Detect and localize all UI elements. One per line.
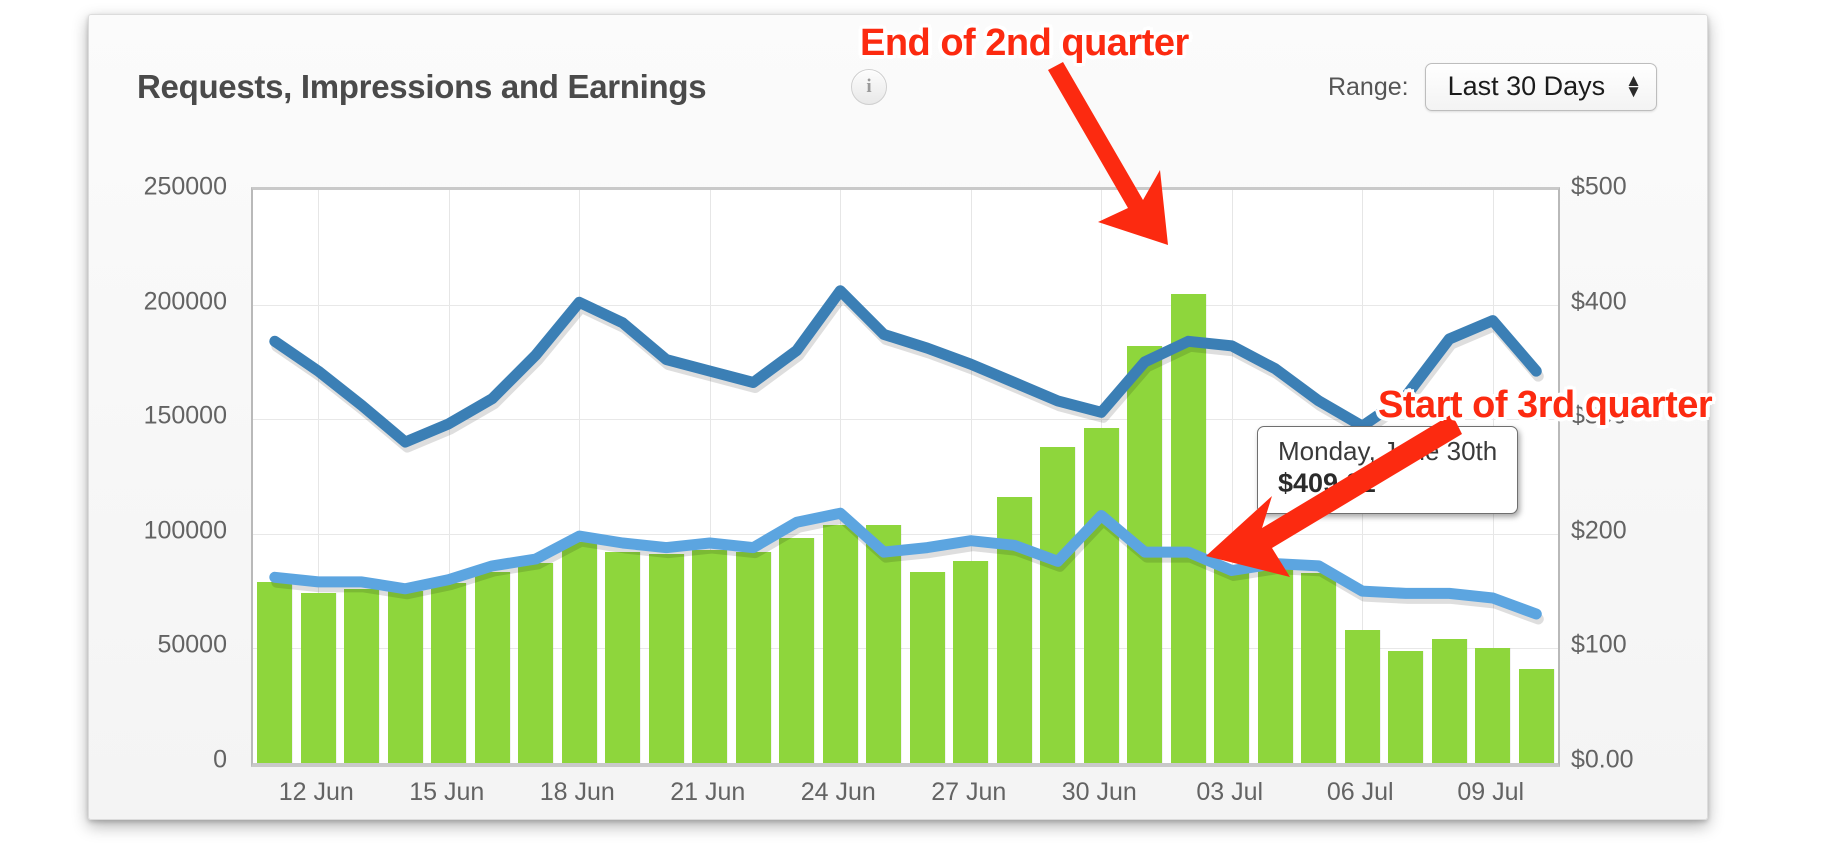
- x-tick-03-Jul: 03 Jul: [1196, 778, 1263, 807]
- y-tick-right-$400: $400: [1571, 287, 1627, 316]
- y-tick-left-100000: 100000: [27, 516, 227, 545]
- tooltip-value: $409.01: [1278, 467, 1497, 501]
- x-tick-12-Jun: 12 Jun: [279, 778, 354, 807]
- y-tick-right-$200: $200: [1571, 516, 1627, 545]
- y-tick-left-50000: 50000: [27, 631, 227, 660]
- chevron-updown-icon: ▲▼: [1625, 76, 1642, 97]
- x-tick-30-Jun: 30 Jun: [1062, 778, 1137, 807]
- info-icon[interactable]: i: [851, 69, 887, 105]
- annotation-label-end-2nd-quarter: End of 2nd quarter: [860, 22, 1189, 65]
- range-selected-value: Last 30 Days: [1448, 71, 1606, 102]
- line-impressions[interactable]: [275, 513, 1537, 614]
- y-tick-right-$500: $500: [1571, 173, 1627, 202]
- x-tick-06-Jul: 06 Jul: [1327, 778, 1394, 807]
- data-tooltip: Monday, June 30th $409.01: [1257, 426, 1518, 514]
- x-tick-18-Jun: 18 Jun: [540, 778, 615, 807]
- y-tick-right-$0.00: $0.00: [1571, 746, 1634, 775]
- plot-container: 050000100000150000200000250000 $0.00$100…: [89, 133, 1707, 819]
- annotation-label-start-3rd-quarter: Start of 3rd quarter: [1378, 384, 1712, 427]
- page-title: Requests, Impressions and Earnings: [137, 68, 706, 106]
- line-requests[interactable]: [275, 291, 1537, 442]
- range-label: Range:: [1328, 73, 1409, 102]
- y-tick-left-250000: 250000: [27, 173, 227, 202]
- x-tick-09-Jul: 09 Jul: [1457, 778, 1524, 807]
- y-tick-left-150000: 150000: [27, 402, 227, 431]
- range-control: Range: Last 30 Days ▲▼: [1328, 63, 1657, 111]
- x-tick-27-Jun: 27 Jun: [931, 778, 1006, 807]
- x-tick-15-Jun: 15 Jun: [409, 778, 484, 807]
- x-tick-21-Jun: 21 Jun: [670, 778, 745, 807]
- tooltip-date: Monday, June 30th: [1278, 437, 1497, 467]
- y-tick-left-0: 0: [27, 746, 227, 775]
- y-tick-right-$100: $100: [1571, 631, 1627, 660]
- x-tick-24-Jun: 24 Jun: [801, 778, 876, 807]
- range-select[interactable]: Last 30 Days ▲▼: [1425, 63, 1657, 111]
- y-tick-left-200000: 200000: [27, 287, 227, 316]
